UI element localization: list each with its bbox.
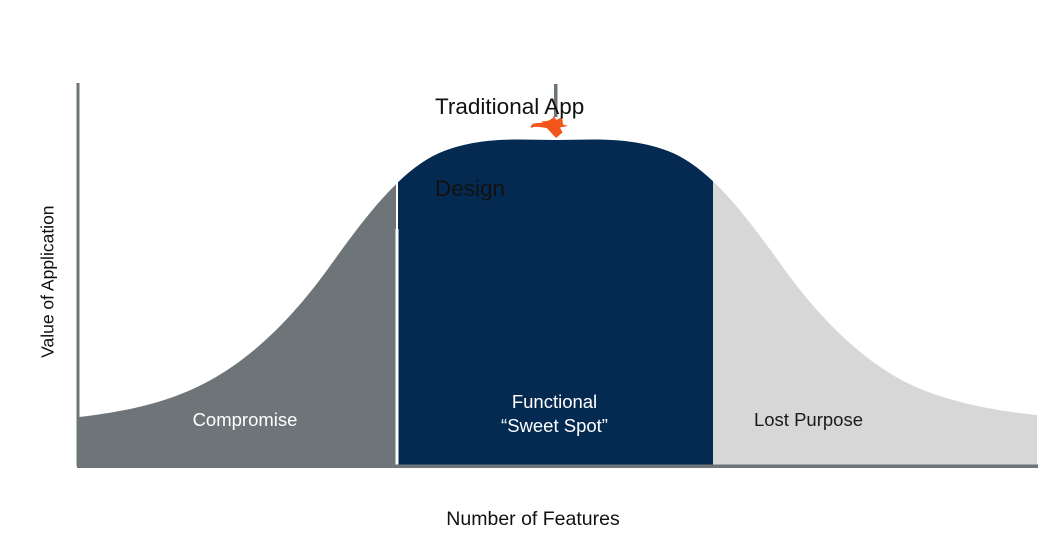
annotation-title-line1: Traditional App bbox=[435, 93, 665, 120]
x-axis-title: Number of Features bbox=[333, 508, 733, 532]
region-label-sweet-spot-line2: “Sweet Spot” bbox=[432, 414, 677, 438]
bell-curve-chart: Traditional App Design Value of Applicat… bbox=[0, 0, 1063, 556]
y-axis-line bbox=[77, 83, 80, 466]
annotation-title-line2: Design bbox=[435, 175, 665, 202]
region-divider-left bbox=[396, 229, 399, 466]
region-label-sweet-spot: Functional “Sweet Spot” bbox=[432, 390, 677, 439]
region-label-compromise: Compromise bbox=[125, 408, 365, 432]
x-axis-line bbox=[77, 465, 1038, 469]
region-label-lost-purpose: Lost Purpose bbox=[706, 408, 911, 432]
region-label-sweet-spot-line1: Functional bbox=[432, 390, 677, 414]
annotation-title: Traditional App Design bbox=[435, 38, 665, 258]
y-axis-title: Value of Application bbox=[37, 152, 58, 412]
